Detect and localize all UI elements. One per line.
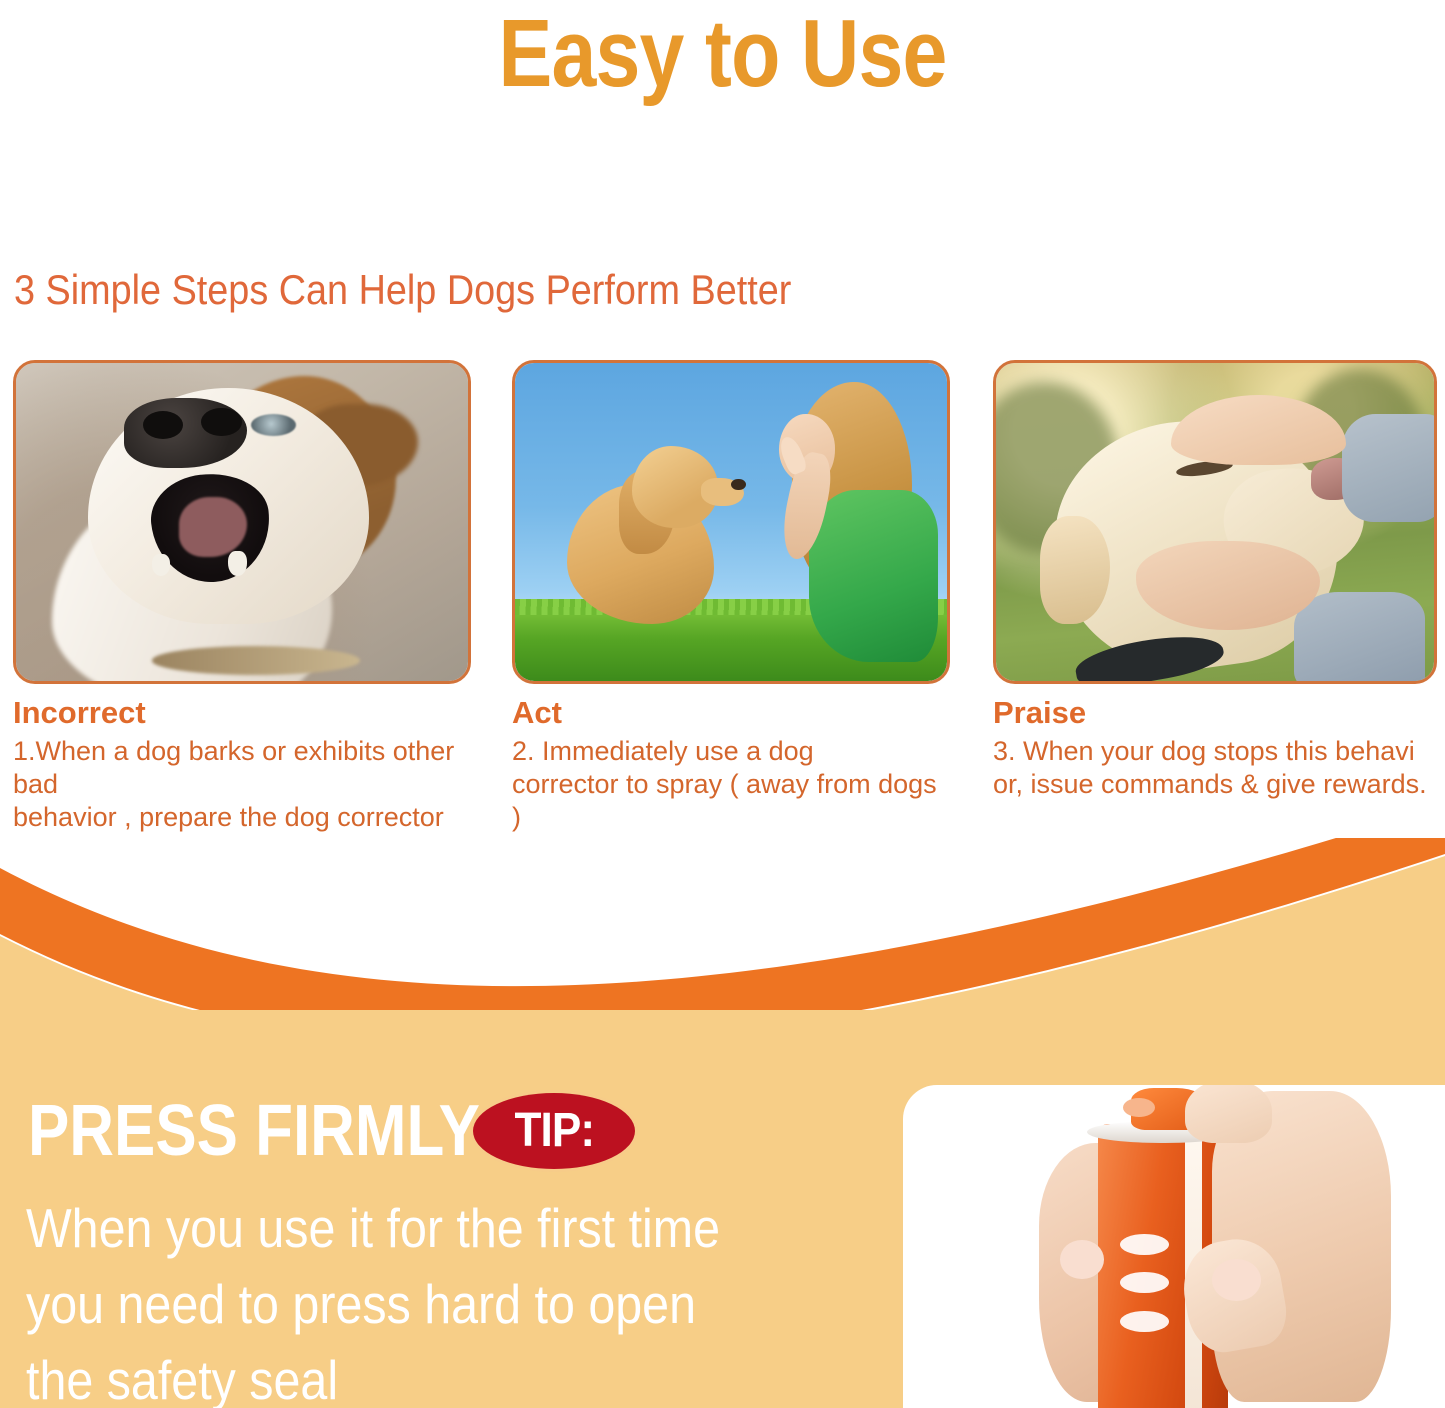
step-text: 2. Immediately use a dog corrector to sp… (512, 735, 950, 834)
step-heading: Praise (993, 694, 1437, 732)
step-card-act: Act 2. Immediately use a dog corrector t… (512, 360, 950, 834)
steps-row: Incorrect 1.When a dog barks or exhibits… (0, 360, 1445, 820)
step-text: 3. When your dog stops this behavi or, i… (993, 735, 1437, 801)
step-card-incorrect: Incorrect 1.When a dog barks or exhibits… (13, 360, 471, 834)
steps-subtitle: 3 Simple Steps Can Help Dogs Perform Bet… (14, 264, 791, 316)
press-firmly-headline: PRESS FIRMLY (28, 1092, 480, 1170)
tip-badge-label: TIP: (515, 1106, 595, 1156)
step-heading: Incorrect (13, 694, 471, 732)
petting-dog-photo (993, 360, 1437, 684)
press-firmly-row: PRESS FIRMLY TIP: (28, 1092, 635, 1170)
step-heading: Act (512, 694, 950, 732)
step-text: 1.When a dog barks or exhibits other bad… (13, 735, 471, 834)
tip-body-text: When you use it for the first time you n… (26, 1190, 836, 1408)
woman-training-dog-photo (512, 360, 950, 684)
infographic-page: Easy to Use 3 Simple Steps Can Help Dogs… (0, 0, 1445, 1408)
tip-badge: TIP: (473, 1093, 635, 1169)
hand-pressing-spray-can-photo (903, 1085, 1445, 1408)
step-card-praise: Praise 3. When your dog stops this behav… (993, 360, 1437, 801)
barking-dog-photo (13, 360, 471, 684)
page-title: Easy to Use (116, 0, 1330, 114)
